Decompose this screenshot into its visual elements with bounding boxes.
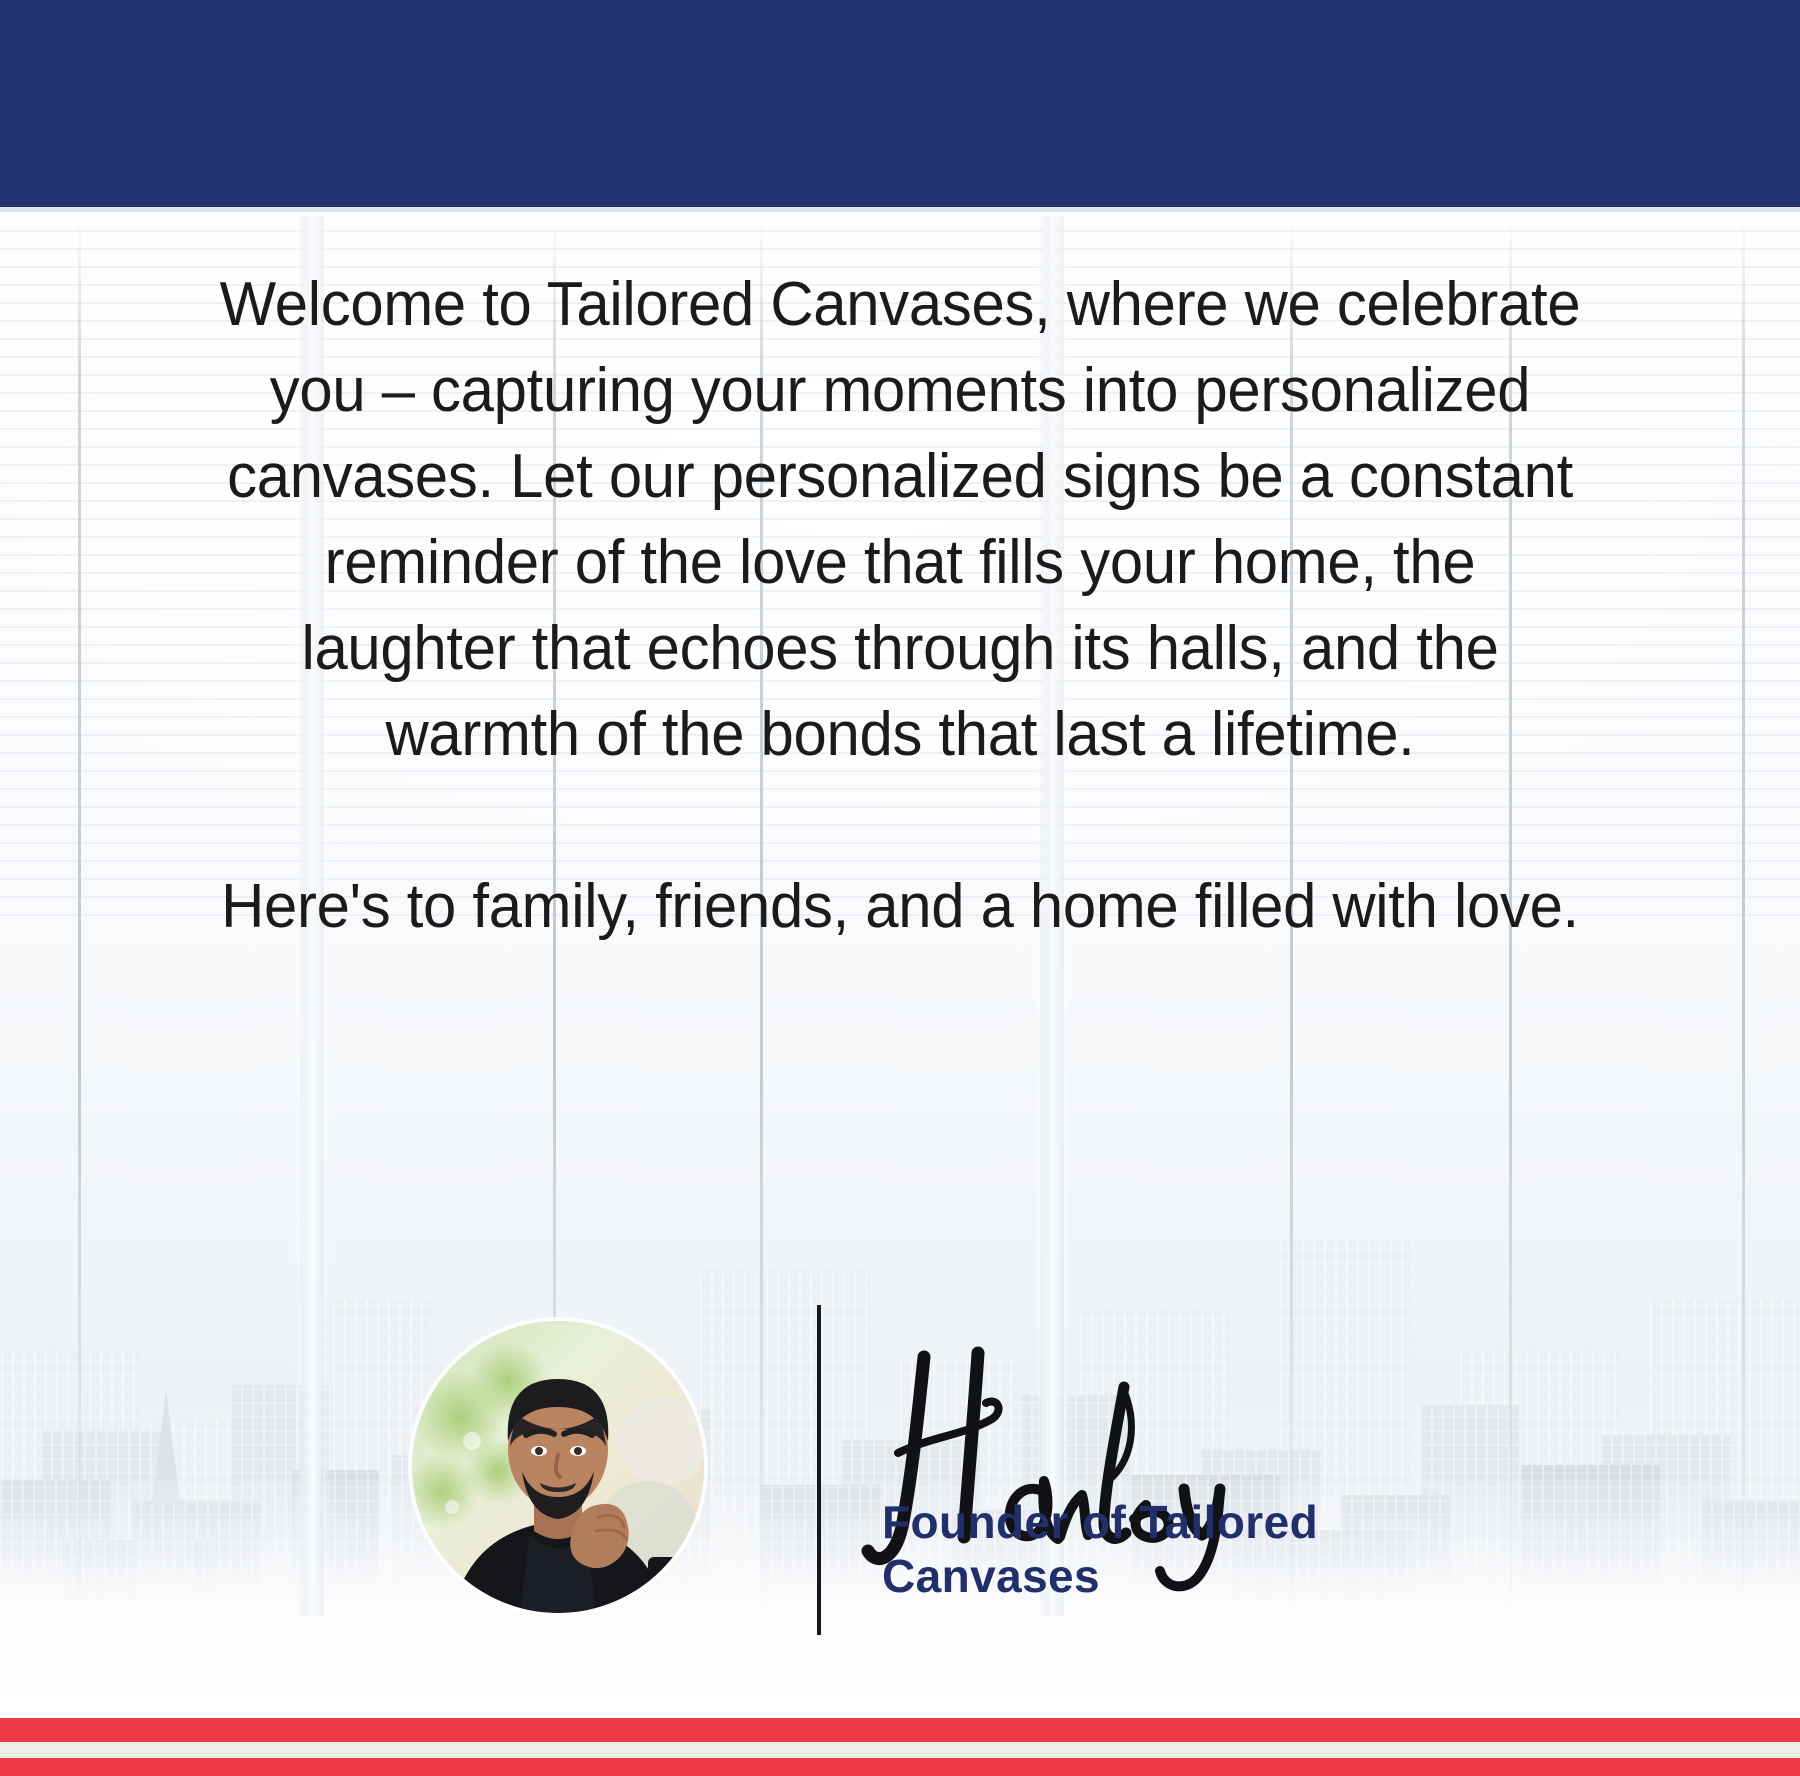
header-band bbox=[0, 0, 1800, 207]
founder-role-line-1: Founder of Tailored bbox=[882, 1495, 1482, 1549]
about-us-graphic: ABOUT US Welcome to Tailored Canvases, w… bbox=[0, 0, 1800, 1776]
footer-stripe-top bbox=[0, 1718, 1800, 1742]
signature-divider bbox=[817, 1305, 821, 1635]
signature-block: Founder of Tailored Canvases bbox=[0, 1295, 1800, 1655]
founder-role: Founder of Tailored Canvases bbox=[882, 1495, 1482, 1603]
header-underline bbox=[0, 207, 1800, 212]
about-paragraph-2: Here's to family, friends, and a home fi… bbox=[215, 864, 1585, 950]
about-paragraph-1: Welcome to Tailored Canvases, where we c… bbox=[215, 262, 1585, 778]
founder-role-line-2: Canvases bbox=[882, 1549, 1482, 1603]
footer-stripe-gap bbox=[0, 1742, 1800, 1758]
footer-stripe-bottom bbox=[0, 1758, 1800, 1776]
avatar bbox=[412, 1321, 704, 1613]
about-copy: Welcome to Tailored Canvases, where we c… bbox=[215, 262, 1585, 950]
